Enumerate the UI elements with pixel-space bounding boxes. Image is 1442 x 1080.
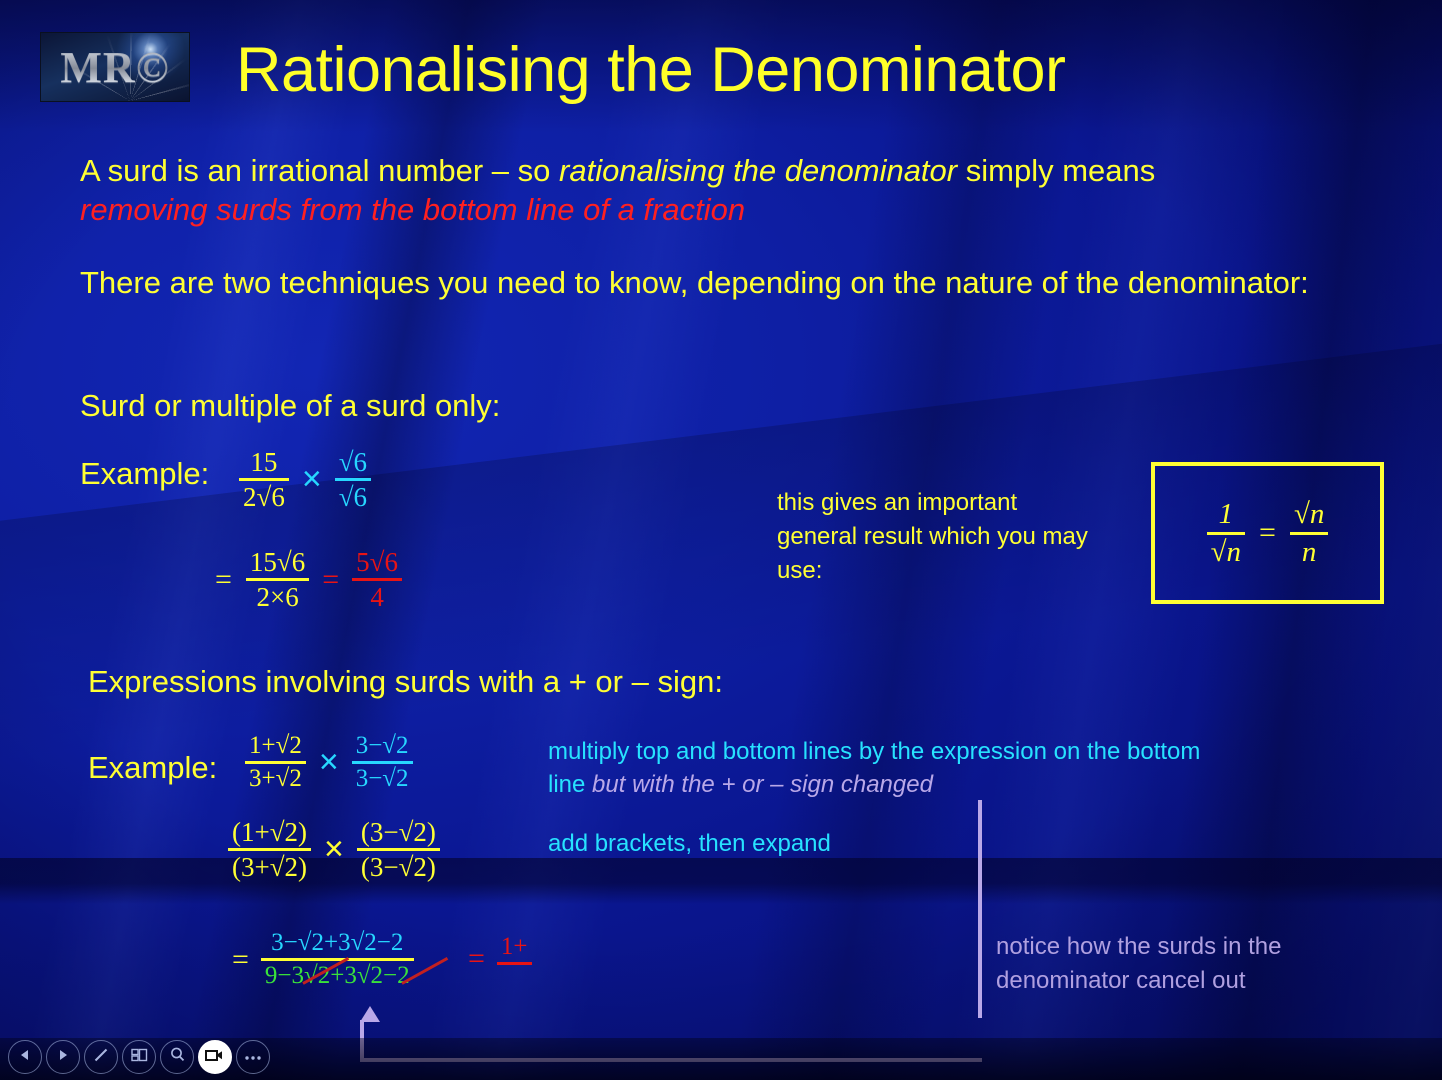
- intro-paragraph: A surd is an irrational number – so rati…: [80, 152, 1370, 230]
- fraction-15root6-over-2x6: 15√6 2×6: [246, 548, 309, 611]
- zoom-button[interactable]: [160, 1040, 194, 1074]
- intro-italic: rationalising the denominator: [559, 153, 957, 188]
- intro-part2: simply means: [957, 153, 1155, 188]
- presentation-toolbar[interactable]: [8, 1040, 270, 1074]
- fraction-bar: [246, 578, 309, 581]
- multiply-operator: ×: [324, 830, 344, 869]
- fraction-bar: [497, 962, 532, 965]
- expanded-fraction: 3−√2+3√2−2 9−3√2+3√2−2: [261, 930, 414, 989]
- fraction-5root6-over-4: 5√6 4: [352, 548, 402, 611]
- multiply-operator: ×: [302, 460, 322, 499]
- intro-red-italic: removing surds from the bottom line of a…: [80, 192, 745, 227]
- section2-equation-line2: (1+√2) (3+√2) × (3−√2) (3−√2): [228, 818, 440, 881]
- section1-heading: Surd or multiple of a surd only:: [80, 388, 500, 424]
- grid-panels-icon: [131, 1047, 148, 1068]
- equals-sign-3: =: [468, 942, 485, 976]
- expanded-denominator: 9−3√2+3√2−2: [261, 963, 414, 989]
- fraction-bar: [1207, 532, 1245, 535]
- section2-equation-line1: 1+√2 3+√2 × 3−√2 3−√2: [245, 733, 413, 792]
- fraction-bar: [352, 578, 402, 581]
- presentation-slide: MR© Rationalising the Denominator A surd…: [0, 0, 1442, 1080]
- cancel-note: notice how the surds in the denominator …: [996, 930, 1356, 997]
- section1-example-label: Example:: [80, 456, 209, 492]
- next-slide-button[interactable]: [46, 1040, 80, 1074]
- section1-equation-line2: = 15√6 2×6 = 5√6 4: [215, 548, 402, 611]
- arrow-up-icon: [360, 1006, 380, 1022]
- section1-equation-line1: 15 2√6 × √6 √6: [239, 448, 371, 511]
- final-result-partial: = 1+: [468, 934, 553, 984]
- magnifier-icon: [169, 1046, 186, 1068]
- previous-slide-button[interactable]: [8, 1040, 42, 1074]
- ellipsis-icon: [244, 1048, 262, 1066]
- fraction-3minusroot2-over-3minusroot2: 3−√2 3−√2: [352, 733, 413, 792]
- multiply-note: multiply top and bottom lines by the exp…: [548, 735, 1238, 801]
- connector-vertical-right: [978, 800, 982, 1018]
- multiply-note-italic: but with the + or – sign changed: [592, 771, 933, 798]
- fraction-bar: [245, 761, 306, 764]
- video-recording-button[interactable]: [198, 1040, 232, 1074]
- equals-sign-2: =: [322, 563, 339, 597]
- equals-sign: =: [215, 563, 232, 597]
- triangle-left-icon: [18, 1048, 32, 1067]
- fraction-1-over-rootn: 1 √n: [1207, 499, 1245, 566]
- fraction-bar: [228, 848, 311, 851]
- pen-tool-button[interactable]: [84, 1040, 118, 1074]
- equals-sign: =: [232, 943, 249, 977]
- triangle-right-icon: [56, 1048, 70, 1067]
- fraction-15-over-2root6: 15 2√6: [239, 448, 289, 511]
- fraction-bar: [357, 848, 440, 851]
- mr-copyright-logo: MR©: [40, 32, 190, 102]
- section2-heading: Expressions involving surds with a + or …: [88, 664, 723, 700]
- bracketed-fraction-right: (3−√2) (3−√2): [357, 818, 440, 881]
- techniques-paragraph: There are two techniques you need to kno…: [80, 264, 1320, 303]
- section2-equation-line3: = 3−√2+3√2−2 9−3√2+3√2−2: [232, 930, 414, 989]
- equals-sign: =: [1259, 516, 1276, 550]
- page-title: Rationalising the Denominator: [236, 34, 1065, 106]
- general-result-box: 1 √n = √n n: [1151, 462, 1384, 604]
- final-fraction: 1+: [497, 934, 532, 984]
- fraction-root6-over-root6: √6 √6: [335, 448, 371, 511]
- brackets-note: add brackets, then expand: [548, 830, 831, 858]
- section2-example-label: Example:: [88, 750, 217, 786]
- logo-text: MR©: [41, 33, 189, 101]
- video-camera-icon: [205, 1048, 225, 1067]
- pen-icon: [92, 1046, 110, 1069]
- fraction-bar: [239, 478, 289, 481]
- slide-overview-button[interactable]: [122, 1040, 156, 1074]
- fraction-1plusroot2-over-3plusroot2: 1+√2 3+√2: [245, 733, 306, 792]
- fraction-bar: [352, 761, 413, 764]
- bracketed-fraction-left: (1+√2) (3+√2): [228, 818, 311, 881]
- multiply-operator: ×: [319, 743, 339, 782]
- fraction-rootn-over-n: √n n: [1290, 499, 1328, 566]
- final-result-clip: 1+: [497, 934, 553, 984]
- fraction-bar: [261, 958, 414, 961]
- more-options-button[interactable]: [236, 1040, 270, 1074]
- expanded-numerator: 3−√2+3√2−2: [267, 930, 407, 956]
- fraction-bar: [1290, 532, 1328, 535]
- fraction-bar: [335, 478, 371, 481]
- intro-part1: A surd is an irrational number – so: [80, 153, 559, 188]
- general-result-note: this gives an important general result w…: [777, 486, 1097, 588]
